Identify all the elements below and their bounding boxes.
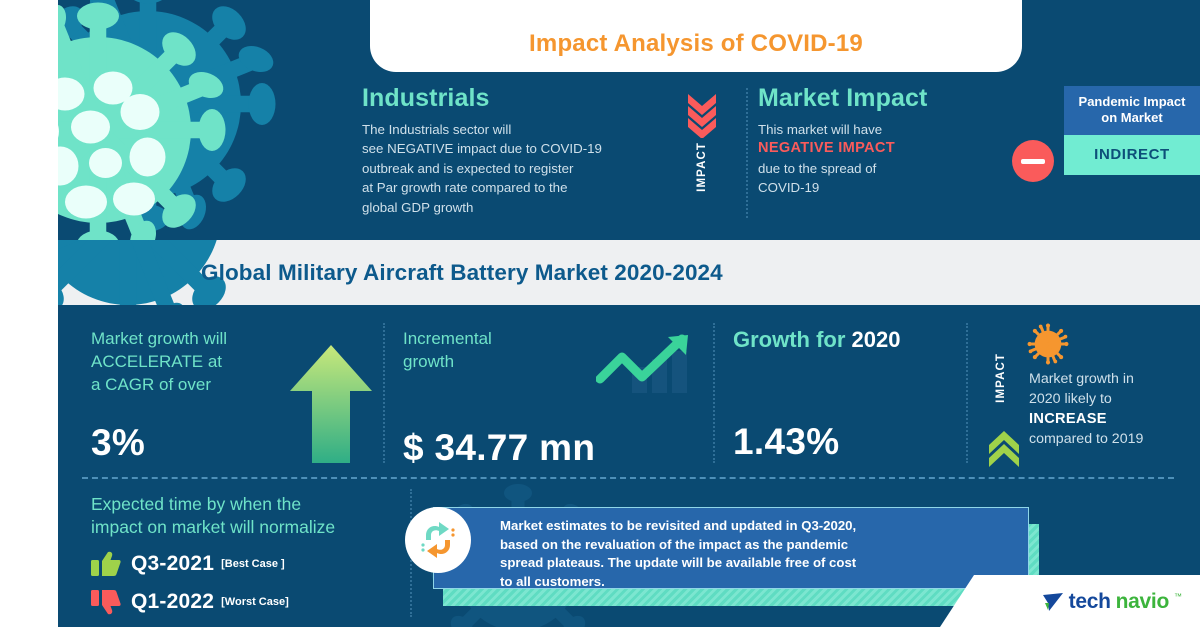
- technavio-logo[interactable]: tech navio ™: [1042, 590, 1182, 614]
- industrials-line-5: global GDP growth: [362, 198, 672, 217]
- main-title-plate: Impact Analysis of COVID-19: [370, 0, 1022, 72]
- metric-cagr-label: Market growth will ACCELERATE at a CAGR …: [91, 327, 296, 396]
- technavio-trademark: ™: [1174, 592, 1182, 601]
- metric-growth-2020-label-year: 2020: [852, 327, 901, 352]
- market-impact-heading: Market Impact: [758, 84, 1028, 113]
- industrials-line-2: see NEGATIVE impact due to COVID-19: [362, 139, 672, 158]
- normalize-title: Expected time by when the impact on mark…: [91, 493, 421, 539]
- thumbs-down-icon: [91, 589, 121, 615]
- metrics-row: Market growth will ACCELERATE at a CAGR …: [58, 305, 1200, 475]
- callout-box: Market estimates to be revisited and upd…: [433, 507, 1029, 589]
- callout-line-4: to all customers.: [500, 573, 1014, 592]
- metric-impact-2020: IMPACT Market growth in 2020 likely to I…: [983, 321, 1200, 471]
- industrials-heading: Industrials: [362, 84, 672, 113]
- industrials-line-4: at Par growth rate compared to the: [362, 178, 672, 197]
- normalize-best-case-label: [Best Case ]: [221, 558, 285, 570]
- normalize-worst-case-label: [Worst Case]: [221, 596, 289, 608]
- chevron-up-icon: [987, 425, 1021, 467]
- callout-line-3: spread plateaus. The update will be avai…: [500, 554, 1014, 573]
- impact-label-top: IMPACT: [696, 142, 708, 192]
- market-impact-line-1: This market will have: [758, 120, 1028, 139]
- metric-impact-2020-line-3: compared to 2019: [1029, 429, 1200, 449]
- metric-impact-2020-emphasis: INCREASE: [1029, 409, 1200, 429]
- normalize-title-line-2: impact on market will normalize: [91, 516, 421, 539]
- metric-incremental-label-line-2: growth: [403, 350, 613, 373]
- metric-incremental-growth: Incremental growth $ 34.77 mn: [403, 327, 613, 469]
- normalize-worst-case-quarter: Q1-2022: [131, 590, 214, 614]
- pandemic-impact-heading: Pandemic Impact on Market: [1064, 86, 1200, 135]
- callout-line-2: based on the revaluation of the impact a…: [500, 536, 1014, 555]
- minus-circle-icon: [1012, 140, 1054, 182]
- metric-cagr-label-line-3: a CAGR of over: [91, 373, 296, 396]
- virus-icon-orange: [1025, 321, 1071, 367]
- technavio-logo-part2: navio: [1116, 590, 1169, 614]
- metric-cagr-label-line-1: Market growth will: [91, 327, 296, 350]
- industrials-body: The Industrials sector will see NEGATIVE…: [362, 120, 672, 217]
- market-impact-emphasis: NEGATIVE IMPACT: [758, 139, 1028, 158]
- impact-label-bottom: IMPACT: [995, 353, 1007, 403]
- industrials-line-3: outbreak and is expected to register: [362, 159, 672, 178]
- growth-chart-icon: [596, 333, 706, 395]
- metric-impact-2020-text: Market growth in 2020 likely to INCREASE…: [1029, 369, 1200, 449]
- divider-metric-2: [713, 323, 715, 463]
- chevron-down-icon: [686, 92, 718, 138]
- normalize-title-line-1: Expected time by when the: [91, 493, 421, 516]
- metric-cagr: Market growth will ACCELERATE at a CAGR …: [91, 327, 296, 464]
- bottom-section: Expected time by when the impact on mark…: [58, 479, 1200, 627]
- metric-incremental-label-line-1: Incremental: [403, 327, 613, 350]
- left-white-margin: [0, 0, 58, 627]
- minus-bar: [1021, 159, 1045, 164]
- refresh-cycle-icon: [405, 507, 471, 573]
- normalize-worst-case-row: Q1-2022 [Worst Case]: [91, 589, 421, 615]
- page-title: Impact Analysis of COVID-19: [529, 30, 863, 58]
- normalize-best-case-row: Q3-2021 [Best Case ]: [91, 551, 421, 577]
- divider-metric-1: [383, 323, 385, 463]
- industrials-line-1: The Industrials sector will: [362, 120, 672, 139]
- report-title: Global Military Aircraft Battery Market …: [201, 260, 723, 286]
- infographic-card: Impact Analysis of COVID-19 Industrials …: [58, 0, 1200, 627]
- market-impact-body: This market will have NEGATIVE IMPACT du…: [758, 120, 1028, 198]
- infographic-root: Impact Analysis of COVID-19 Industrials …: [0, 0, 1200, 627]
- impact-indicator-top: IMPACT: [672, 92, 732, 232]
- market-impact-line-3: COVID-19: [758, 178, 1028, 197]
- market-impact-block: Market Impact This market will have NEGA…: [758, 84, 1028, 198]
- divider-metric-3: [966, 323, 968, 463]
- metric-growth-2020-value: 1.43%: [733, 421, 963, 463]
- market-impact-line-2: due to the spread of: [758, 159, 1028, 178]
- technavio-logo-part1: tech: [1069, 590, 1111, 614]
- metric-incremental-label: Incremental growth: [403, 327, 613, 373]
- thumbs-up-icon: [91, 551, 121, 577]
- metric-growth-2020: Growth for 2020 1.43%: [733, 327, 963, 463]
- normalize-block: Expected time by when the impact on mark…: [91, 493, 421, 615]
- divider-top-1: [746, 88, 748, 218]
- technavio-arrow-icon: [1042, 592, 1064, 612]
- metric-growth-2020-label: Growth for 2020: [733, 327, 963, 353]
- top-section: Impact Analysis of COVID-19 Industrials …: [58, 0, 1200, 240]
- normalize-best-case-quarter: Q3-2021: [131, 552, 214, 576]
- refresh-arrows-icon: [416, 518, 460, 562]
- pandemic-impact-heading-line-2: on Market: [1070, 110, 1194, 126]
- report-title-bar: Global Military Aircraft Battery Market …: [58, 240, 1200, 305]
- metric-impact-2020-line-2: 2020 likely to: [1029, 389, 1200, 409]
- virus-icon-mint: [58, 0, 248, 240]
- metric-impact-2020-line-1: Market growth in: [1029, 369, 1200, 389]
- industrials-block: Industrials The Industrials sector will …: [362, 84, 672, 217]
- pandemic-impact-badge: Pandemic Impact on Market INDIRECT: [1064, 86, 1200, 175]
- metric-cagr-label-line-2: ACCELERATE at: [91, 350, 296, 373]
- metric-cagr-value: 3%: [91, 422, 296, 464]
- metric-incremental-value: $ 34.77 mn: [403, 427, 613, 469]
- callout-line-1: Market estimates to be revisited and upd…: [500, 517, 1014, 536]
- pandemic-impact-heading-line-1: Pandemic Impact: [1070, 94, 1194, 110]
- metric-growth-2020-label-teal: Growth for: [733, 327, 852, 352]
- pandemic-impact-value: INDIRECT: [1064, 135, 1200, 175]
- arrow-up-icon: [288, 343, 374, 463]
